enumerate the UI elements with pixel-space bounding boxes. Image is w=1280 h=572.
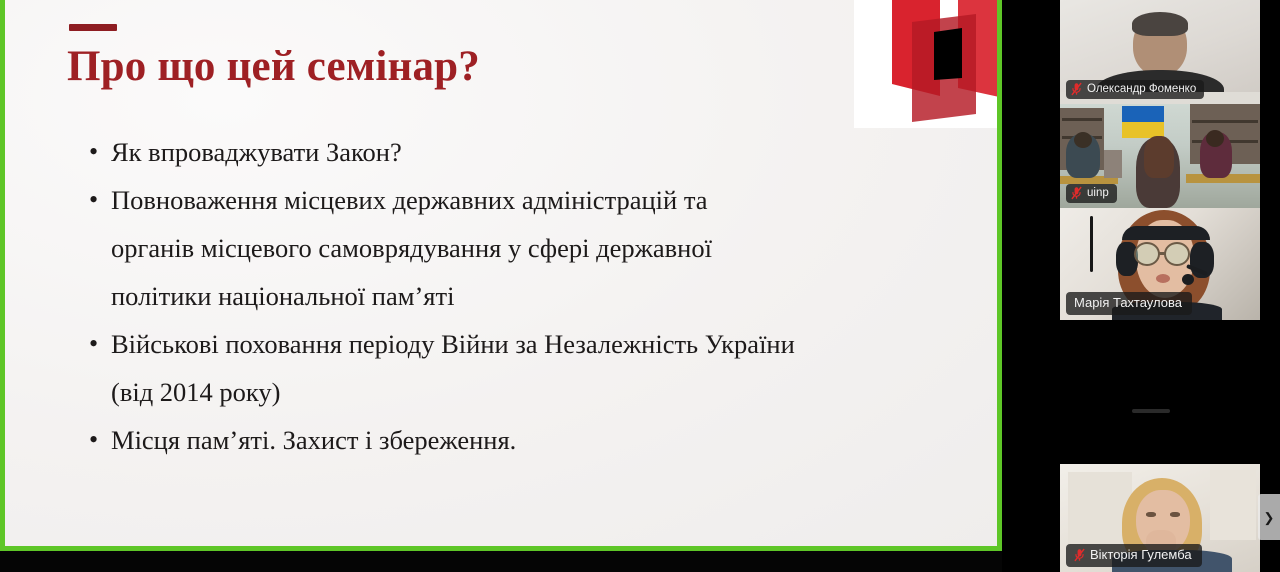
participant-name: Марія Тахтаулова (1074, 295, 1182, 311)
slide-bullet-list: • Як впроваджувати Закон? • Повноваження… (81, 128, 986, 464)
participant-name: uinp (1087, 186, 1109, 200)
participant-name: Олександр Фоменко (1087, 82, 1196, 96)
filmstrip-edge-divider (1090, 216, 1093, 272)
participant-tile[interactable]: Олександр Фоменко (1060, 0, 1260, 104)
chevron-right-icon: ❯ (1264, 511, 1275, 524)
bullet-marker: • (89, 176, 98, 224)
bullet-line: Повноваження місцевих державних адмініст… (111, 176, 986, 224)
zoom-meeting-window: Про що цей семінар? • Як впроваджувати З… (0, 0, 1280, 572)
bullet-line: Військові поховання періоду Війни за Нез… (111, 320, 986, 368)
bullet-line: Місця пам’яті. Захист і збереження. (111, 416, 986, 464)
filmstrip-next-arrow-button[interactable]: ❯ (1258, 494, 1280, 540)
microphone-muted-icon (1074, 548, 1085, 562)
bullet-line: (від 2014 року) (111, 368, 986, 416)
list-item: • Повноваження місцевих державних адміні… (81, 176, 986, 320)
participant-tile[interactable]: Вікторія Гулемба (1060, 464, 1260, 572)
bullet-marker: • (89, 416, 98, 464)
bullet-marker: • (89, 320, 98, 368)
bullet-line: Як впроваджувати Закон? (111, 128, 986, 176)
microphone-muted-icon (1071, 186, 1082, 200)
uinp-logo (854, 0, 997, 128)
list-item: • Як впроваджувати Закон? (81, 128, 986, 176)
participant-filmstrip[interactable]: Олександр Фоменко (1002, 0, 1280, 572)
presentation-slide[interactable]: Про що цей семінар? • Як впроваджувати З… (5, 0, 997, 546)
list-item: • Військові поховання періоду Війни за Н… (81, 320, 986, 416)
participant-name-badge: Олександр Фоменко (1066, 80, 1204, 99)
participant-tile[interactable]: uinp (1060, 104, 1260, 208)
title-accent-dash (69, 24, 117, 31)
screen-share-region[interactable]: Про що цей семінар? • Як впроваджувати З… (0, 0, 1002, 551)
bullet-marker: • (89, 128, 98, 176)
filmstrip-collapse-handle[interactable] (1132, 409, 1170, 413)
bullet-line: органів місцевого самоврядування у сфері… (111, 224, 986, 272)
slide-title: Про що цей семінар? (67, 42, 480, 91)
participant-name: Вікторія Гулемба (1090, 547, 1192, 563)
participant-name-badge: Марія Тахтаулова (1066, 292, 1192, 315)
participant-name-badge: uinp (1066, 184, 1117, 203)
participant-name-badge: Вікторія Гулемба (1066, 544, 1202, 567)
microphone-muted-icon (1071, 82, 1082, 96)
list-item: • Місця пам’яті. Захист і збереження. (81, 416, 986, 464)
bullet-line: політики національної пам’яті (111, 272, 986, 320)
